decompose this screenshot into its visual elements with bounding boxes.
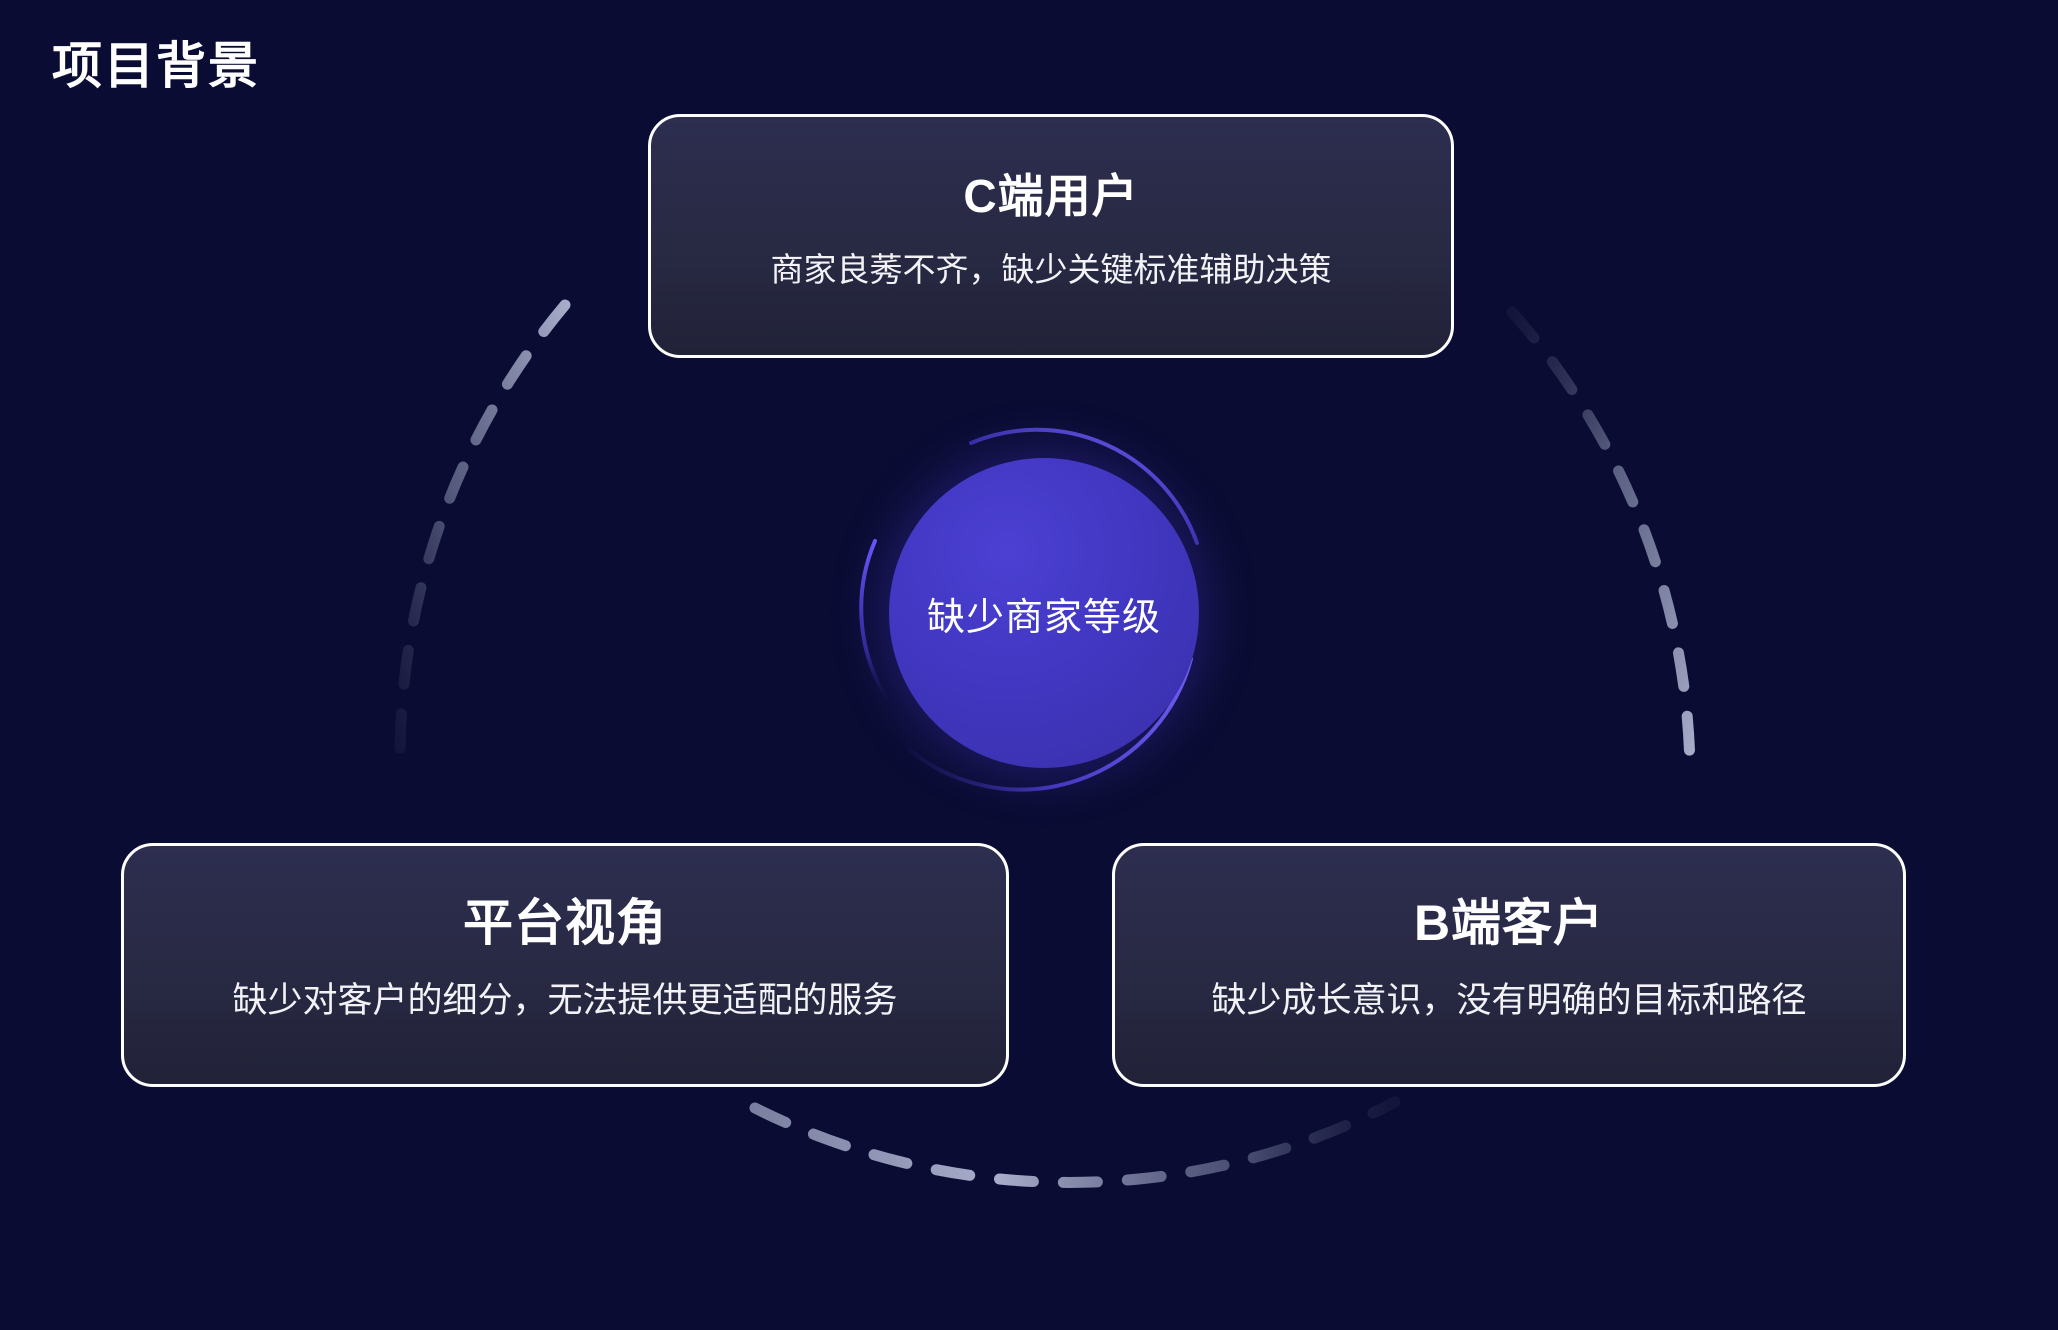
card-platform-title: 平台视角	[463, 895, 667, 953]
page-title: 项目背景	[52, 36, 260, 96]
center-hub: 缺少商家等级	[853, 413, 1233, 813]
card-b-client-title: B端客户	[1414, 895, 1604, 953]
hub-circle[interactable]: 缺少商家等级	[889, 458, 1199, 768]
connector-bottom-arc	[755, 1102, 1395, 1182]
card-platform[interactable]: 平台视角 缺少对客户的细分，无法提供更适配的服务	[121, 843, 1009, 1087]
connector-left-arc	[400, 305, 565, 760]
slide-canvas: 项目背景	[0, 0, 2058, 1330]
card-c-user[interactable]: C端用户 商家良莠不齐，缺少关键标准辅助决策	[648, 114, 1454, 358]
hub-label: 缺少商家等级	[927, 586, 1161, 641]
card-b-client-description: 缺少成长意识，没有明确的目标和路径	[1211, 979, 1806, 1023]
card-platform-description: 缺少对客户的细分，无法提供更适配的服务	[232, 979, 897, 1023]
hub-arc-left	[861, 541, 887, 699]
connector-right-arc	[1512, 312, 1690, 768]
card-c-user-title: C端用户	[963, 170, 1138, 223]
card-b-client[interactable]: B端客户 缺少成长意识，没有明确的目标和路径	[1112, 843, 1906, 1087]
card-c-user-description: 商家良莠不齐，缺少关键标准辅助决策	[771, 249, 1332, 290]
